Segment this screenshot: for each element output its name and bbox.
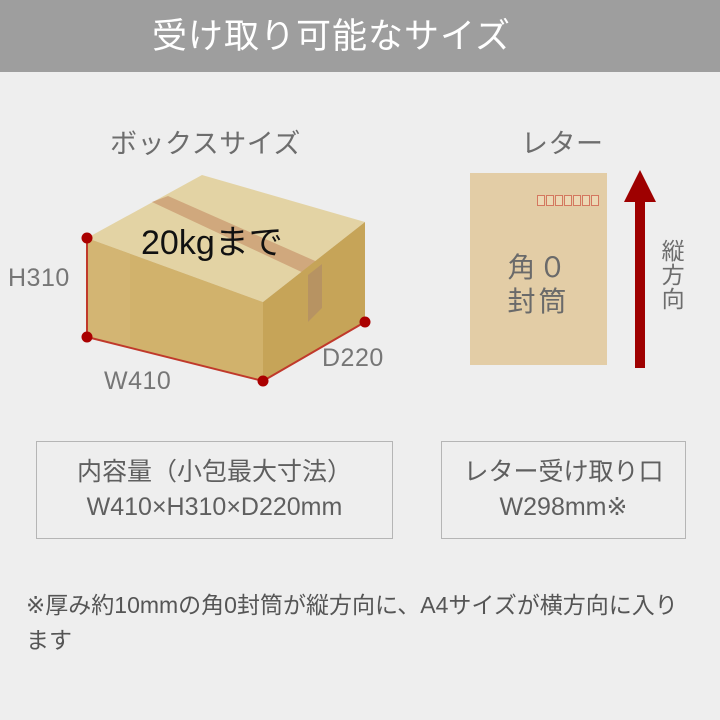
envelope-label-line2: 封筒 — [470, 285, 607, 319]
direction-arrow — [623, 170, 657, 368]
footnote-text: ※厚み約10mmの角0封筒が縦方向に、A4サイズが横方向に入ります — [26, 588, 698, 657]
corner-dot-bottom-front — [258, 376, 269, 387]
envelope-graphic: 角０ 封筒 — [470, 173, 607, 365]
postal-code-cell — [546, 195, 554, 206]
info-box-letter-slot: レター受け取り口 W298mm※ — [441, 441, 686, 539]
postal-code-boxes — [537, 195, 599, 206]
postal-code-cell — [537, 195, 545, 206]
postal-code-cell — [591, 195, 599, 206]
info-box-letter-slot-title: レター受け取り口 — [463, 457, 663, 488]
page-title: 受け取り可能なサイズ — [152, 19, 511, 54]
dimension-label-height: H310 — [8, 264, 70, 293]
info-box-capacity-value: W410×H310×D220mm — [87, 491, 343, 524]
postal-code-cell — [555, 195, 563, 206]
postal-code-cell — [573, 195, 581, 206]
box-weight-note: 20kgまで — [141, 215, 283, 264]
corner-dot-top-left — [82, 233, 93, 244]
dimension-label-width: W410 — [104, 367, 171, 396]
letter-illustration: 角０ 封筒 縦方向 — [445, 165, 695, 390]
box-front-shade — [87, 238, 130, 353]
postal-code-cell — [582, 195, 590, 206]
corner-dot-right — [360, 317, 371, 328]
header-bar: 受け取り可能なサイズ — [0, 0, 720, 72]
info-box-letter-slot-value: W298mm※ — [500, 491, 628, 524]
direction-label: 縦方向 — [657, 239, 684, 311]
postal-code-cell — [564, 195, 572, 206]
envelope-label-line1: 角０ — [470, 251, 607, 285]
dimension-label-depth: D220 — [322, 344, 384, 373]
info-box-capacity: 内容量（小包最大寸法） W410×H310×D220mm — [36, 441, 393, 539]
envelope-label: 角０ 封筒 — [470, 251, 607, 319]
section-label-box-size: ボックスサイズ — [110, 122, 301, 161]
receivable-size-infographic: { "header": { "title": "受け取り可能なサイズ" }, "… — [0, 0, 720, 720]
info-box-capacity-title: 内容量（小包最大寸法） — [77, 457, 352, 488]
section-label-letter: レター — [521, 122, 604, 161]
up-arrow-icon — [623, 170, 657, 368]
corner-dot-bottom-left — [82, 332, 93, 343]
